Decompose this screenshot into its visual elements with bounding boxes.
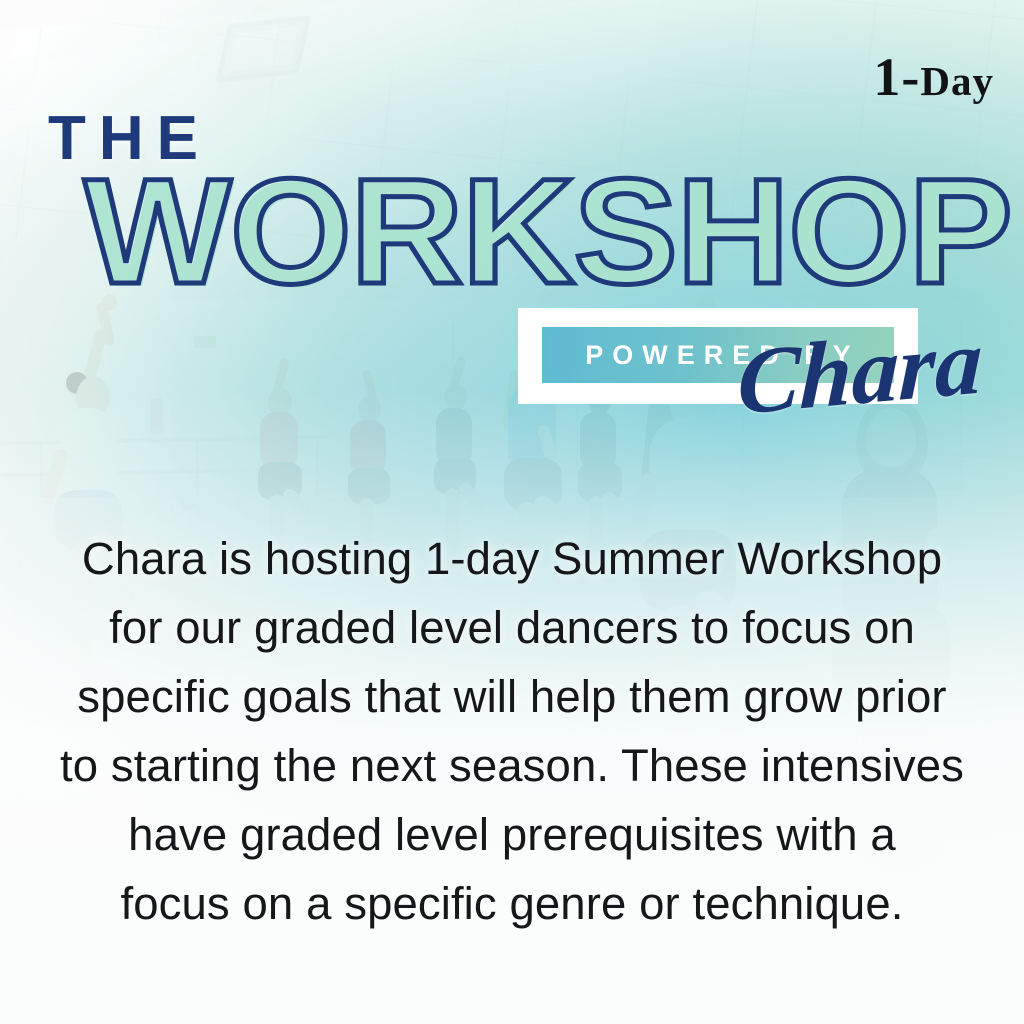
description-line: have graded level prerequisites with a <box>46 800 978 869</box>
duration-badge-prefix: 1- <box>873 47 920 107</box>
description-line: to starting the next season. These inten… <box>46 731 978 800</box>
description-paragraph: Chara is hosting 1-day Summer Workshop f… <box>46 524 978 938</box>
title-main: WORKSHOP <box>84 156 999 306</box>
description-line: focus on a specific genre or technique. <box>46 869 978 938</box>
description-line: specific goals that will help them grow … <box>46 662 978 731</box>
description-line: for our graded level dancers to focus on <box>46 593 978 662</box>
workshop-promo-poster: 1-Day THE WORKSHOP POWERED BY Chara Char… <box>0 0 1024 1024</box>
duration-badge-word: Day <box>920 58 994 104</box>
duration-badge: 1-Day <box>873 50 994 104</box>
description-line: Chara is hosting 1-day Summer Workshop <box>46 524 978 593</box>
brand-signature: Chara <box>736 314 984 430</box>
